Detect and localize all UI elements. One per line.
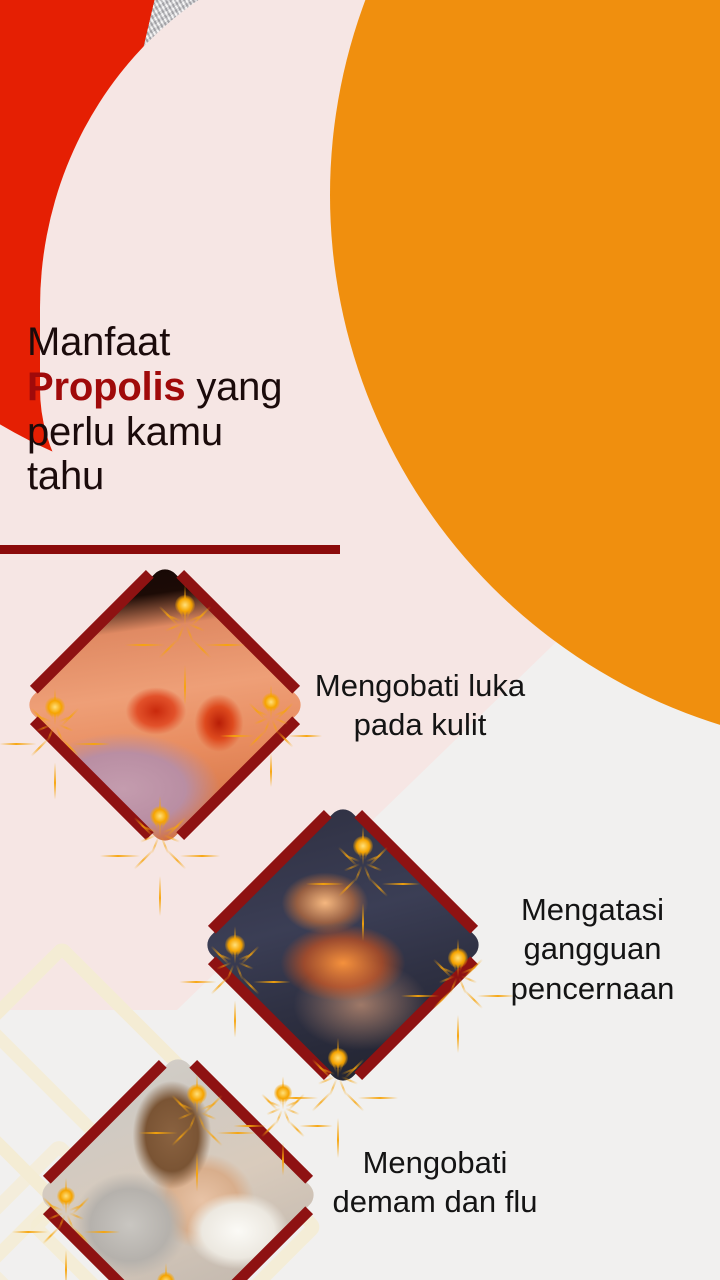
benefit-card-digestion xyxy=(243,845,443,1045)
title-divider xyxy=(0,545,340,554)
page-title: Manfaat Propolis yang perlu kamu tahu xyxy=(27,320,357,499)
infographic-poster: Manfaat Propolis yang perlu kamu tahu Me… xyxy=(0,0,720,1280)
headline-line-3: perlu kamu xyxy=(27,410,223,454)
benefit-caption-wound: Mengobati luka pada kulit xyxy=(300,666,540,745)
headline-line-2-rest: yang xyxy=(185,365,282,409)
diamond-frame-wound xyxy=(24,564,307,847)
headline-highlight: Propolis xyxy=(27,365,185,409)
benefit-caption-digestion: Mengatasi gangguan pencernaan xyxy=(470,890,715,1008)
headline-line-1: Manfaat xyxy=(27,320,170,364)
headline-line-4: tahu xyxy=(27,454,104,498)
diamond-frame-digestion xyxy=(202,804,485,1087)
benefit-card-wound xyxy=(65,605,265,805)
benefit-caption-flu: Mengobati demam dan flu xyxy=(310,1143,560,1222)
benefit-card-flu xyxy=(78,1095,278,1280)
